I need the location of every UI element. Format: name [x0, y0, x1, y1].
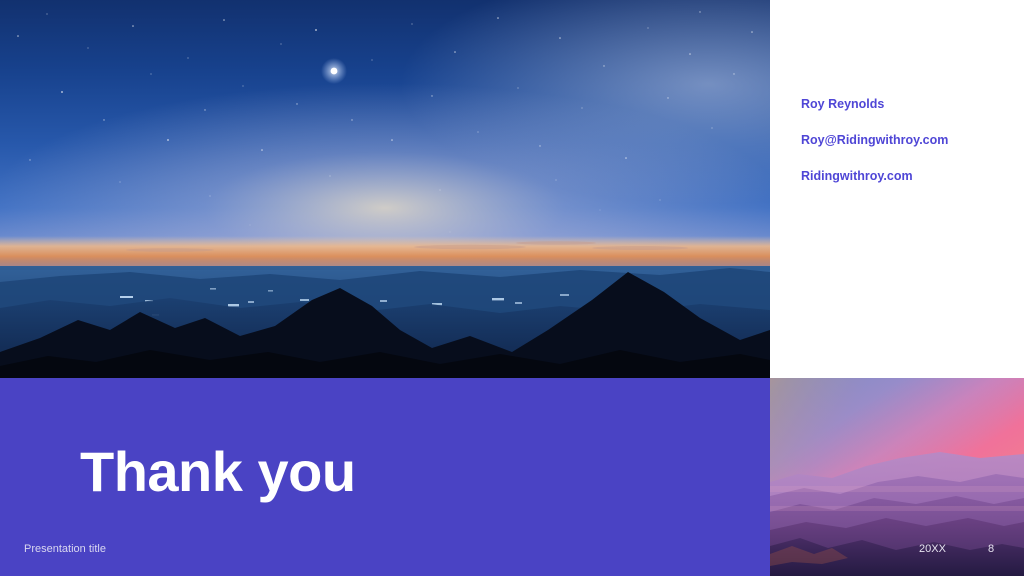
- contact-list: Roy Reynolds Roy@Ridingwithroy.com Ridin…: [801, 96, 1016, 184]
- contact-name: Roy Reynolds: [801, 96, 1016, 112]
- footer-page-number: 8: [988, 542, 994, 556]
- footer-date: 20XX: [919, 542, 946, 556]
- contact-email[interactable]: Roy@Ridingwithroy.com: [801, 132, 1016, 148]
- pink-sunset-ridges-photo: [770, 378, 1024, 576]
- slide-canvas: Thank you Presentation title Roy Reynold…: [0, 0, 1024, 576]
- contact-panel: [770, 0, 1024, 378]
- footer-presentation-title: Presentation title: [24, 542, 106, 556]
- contact-website[interactable]: Ridingwithroy.com: [801, 168, 1016, 184]
- page-title: Thank you: [80, 440, 356, 504]
- starry-night-mountain-photo: [0, 0, 770, 378]
